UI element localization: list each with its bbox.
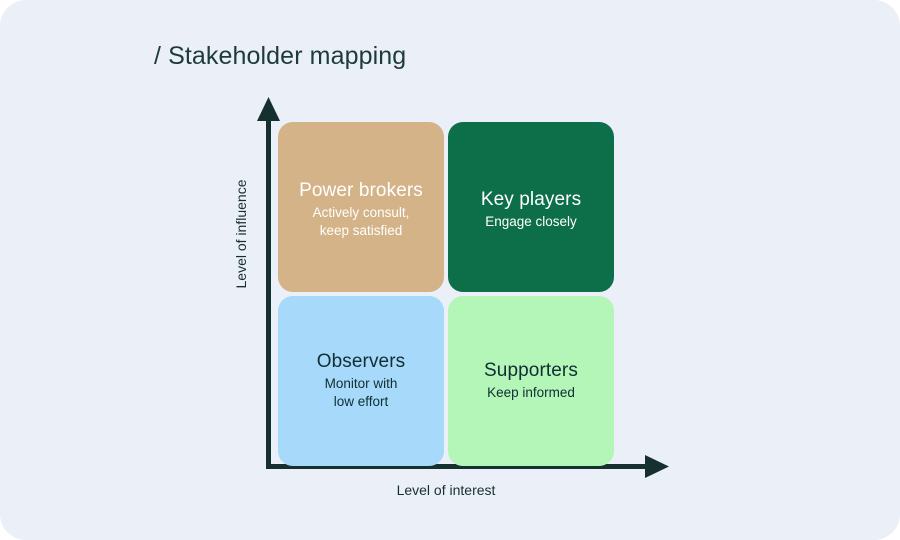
quadrant-description-line-1: Actively consult,: [299, 204, 423, 221]
quadrant-description-line-2: low effort: [317, 393, 406, 410]
stakeholder-mapping-page: / Stakeholder mapping Power brokers Acti…: [0, 0, 900, 540]
quadrant-observers[interactable]: Observers Monitor with low effort: [278, 296, 444, 466]
quadrant-title: Key players: [481, 188, 581, 212]
quadrant-title: Power brokers: [299, 179, 423, 203]
quadrant-description-line-1: Engage closely: [481, 213, 581, 230]
x-axis-arrow-icon: [645, 455, 669, 478]
quadrant-grid: Power brokers Actively consult, keep sat…: [278, 122, 614, 464]
quadrant-power-brokers[interactable]: Power brokers Actively consult, keep sat…: [278, 122, 444, 292]
y-axis-label: Level of influence: [233, 154, 249, 314]
page-title: / Stakeholder mapping: [154, 40, 406, 72]
quadrant-title: Observers: [317, 350, 406, 374]
quadrant-title: Supporters: [484, 359, 578, 383]
y-axis-arrow-icon: [257, 97, 280, 121]
quadrant-chart: Power brokers Actively consult, keep sat…: [225, 95, 685, 505]
x-axis-label: Level of interest: [278, 482, 614, 498]
quadrant-supporters[interactable]: Supporters Keep informed: [448, 296, 614, 466]
quadrant-description-line-1: Monitor with: [317, 375, 406, 392]
quadrant-description-line-2: keep satisfied: [299, 222, 423, 239]
quadrant-key-players[interactable]: Key players Engage closely: [448, 122, 614, 292]
quadrant-description-line-1: Keep informed: [484, 384, 578, 401]
